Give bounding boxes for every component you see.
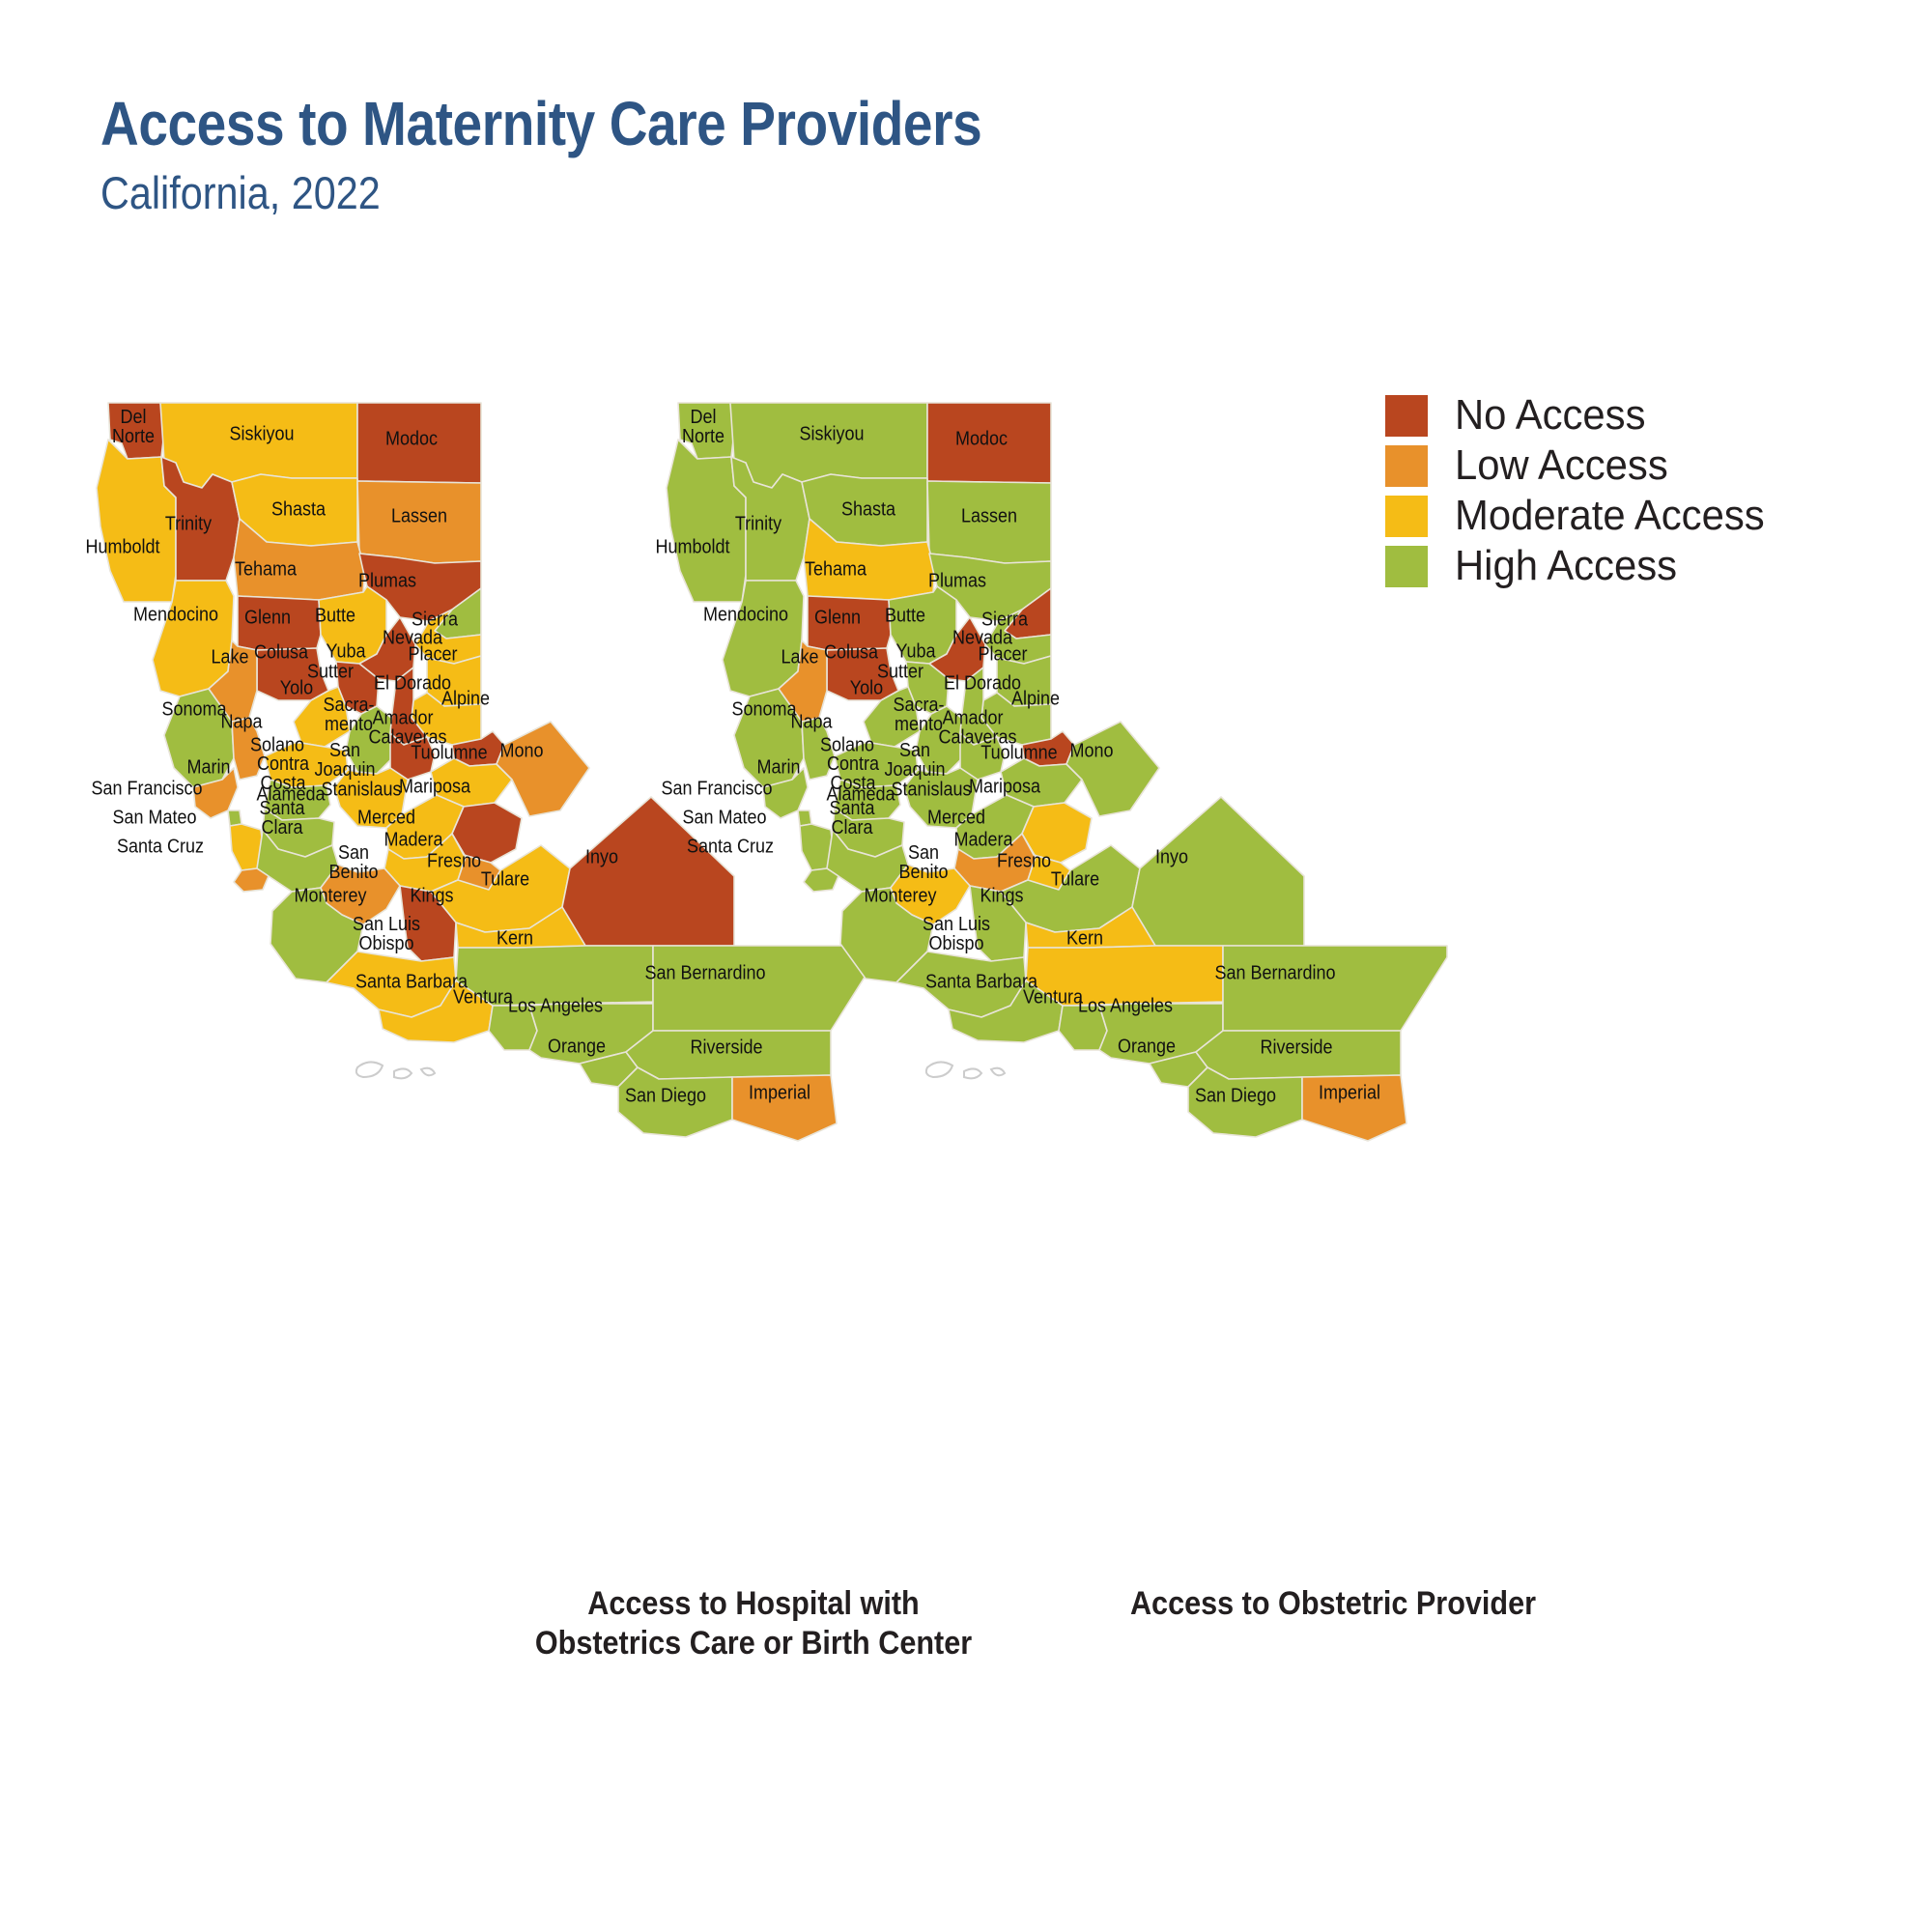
county-santa-cruz[interactable] [804,868,838,892]
county-modoc[interactable] [927,403,1051,483]
legend-label-moderate-access: Moderate Access [1455,492,1765,540]
county-napa[interactable] [802,718,835,780]
channel-islands [356,1062,435,1078]
legend-label-high-access: High Access [1455,542,1677,590]
county-lassen[interactable] [927,481,1051,563]
county-santa-cruz[interactable] [234,868,269,892]
title-block: Access to Maternity Care Providers Calif… [100,93,1125,215]
legend-label-no-access: No Access [1455,391,1645,440]
county-solano[interactable] [835,743,918,787]
county-solano[interactable] [265,743,348,787]
county-napa[interactable] [232,718,265,780]
map2-svg [638,319,1449,1217]
county-colusa[interactable] [257,648,328,700]
legend-label-low-access: Low Access [1455,441,1668,490]
page-title: Access to Maternity Care Providers [100,93,981,155]
county-ventura[interactable] [1059,1006,1107,1050]
county-kern[interactable] [1026,946,1223,1006]
county-kern[interactable] [456,946,653,1006]
county-colusa[interactable] [827,648,898,700]
county-ventura[interactable] [489,1006,537,1050]
county-butte[interactable] [889,586,956,664]
page-subtitle: California, 2022 [100,170,1002,215]
county-lassen[interactable] [357,481,481,563]
county-sacramento[interactable] [916,706,966,774]
map1-caption-line2: Obstetrics Care or Birth Center [406,1624,1101,1663]
county-modoc[interactable] [357,403,481,483]
county-imperial[interactable] [1302,1075,1406,1141]
map2-caption-line1: Access to Obstetric Provider [985,1584,1681,1624]
channel-islands [926,1062,1005,1078]
county-glenn[interactable] [808,596,891,650]
map2-caption: Access to Obstetric Provider [985,1584,1681,1624]
county-sacramento[interactable] [346,706,396,774]
county-mono[interactable] [1066,722,1159,816]
county-glenn[interactable] [238,596,321,650]
county-inyo[interactable] [1132,797,1304,946]
county-san-diego[interactable] [1188,1067,1302,1137]
county-san-bernardino[interactable] [1223,946,1447,1031]
county-butte[interactable] [319,586,386,664]
county-mono[interactable] [497,722,589,816]
county-riverside[interactable] [1196,1031,1401,1079]
map-obstetric-provider: DelNorteSiskiyouModocTrinityShastaLassen… [638,319,1449,1217]
